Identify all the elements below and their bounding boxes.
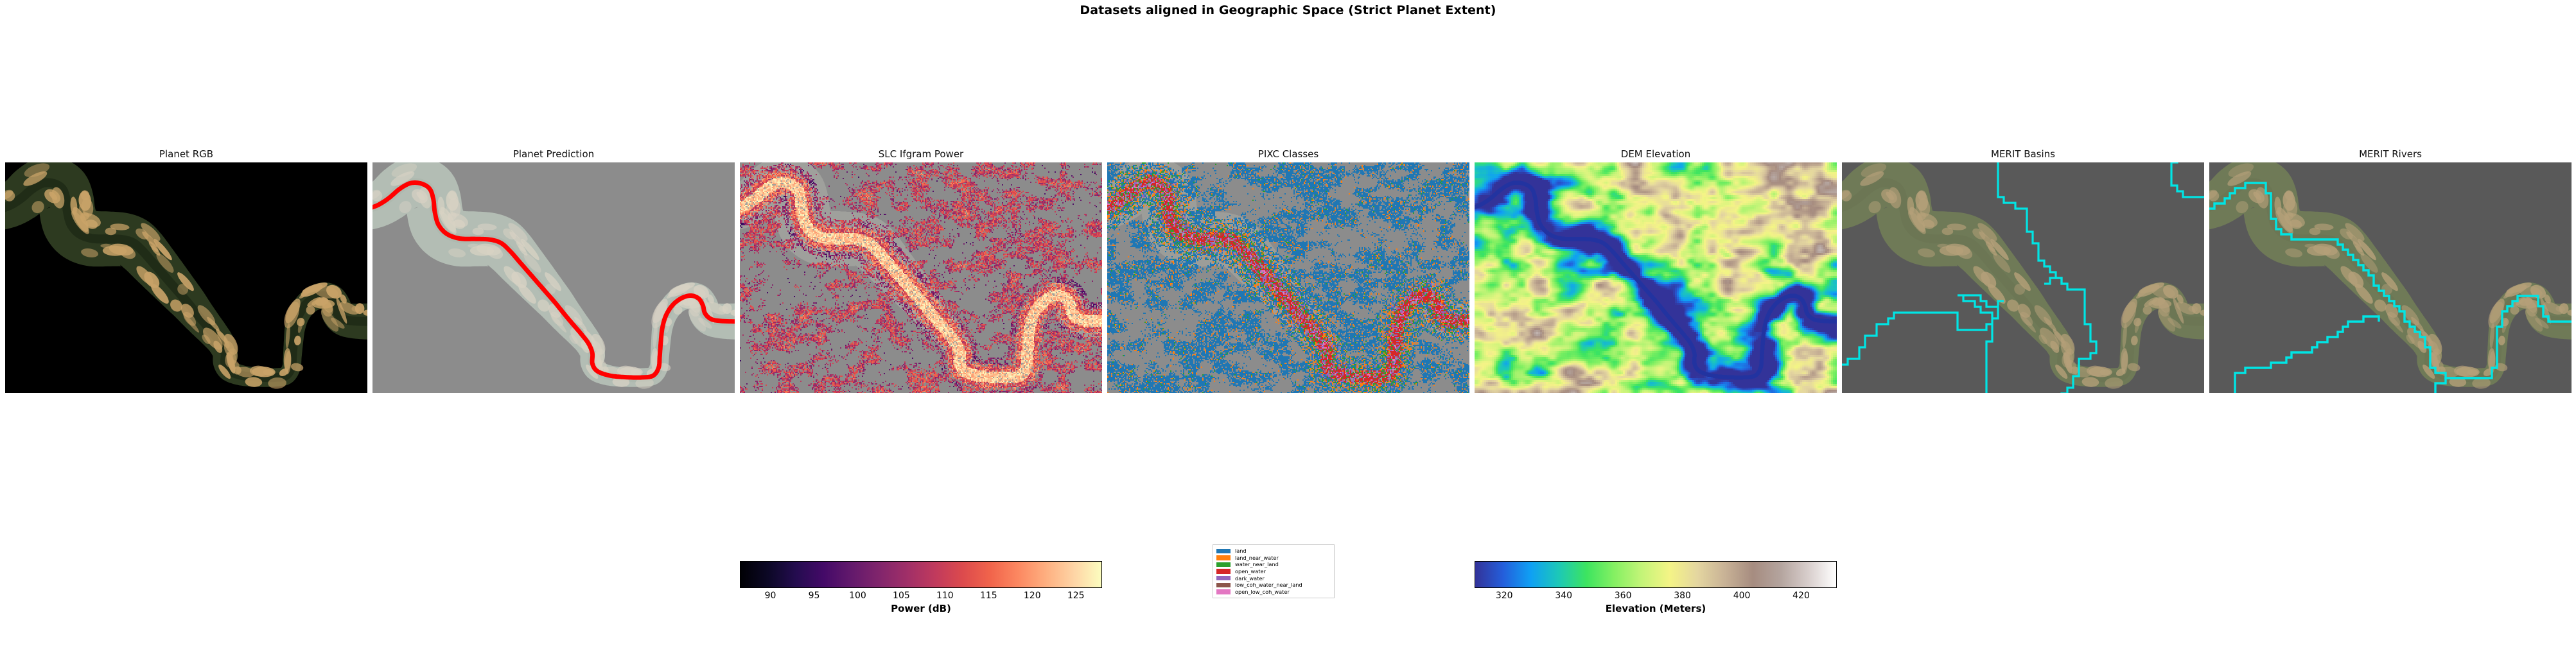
panel-image-planet-prediction[interactable] (372, 162, 735, 393)
panel-dem-elevation: DEM Elevation (1475, 162, 1837, 393)
panel-title-pixc-classes: PIXC Classes (1107, 148, 1469, 160)
legend-label: dark_water (1235, 576, 1265, 581)
colorbar-power-tick: 90 (765, 591, 776, 601)
legend-swatch-icon (1216, 576, 1231, 581)
colorbar-elevation: 320340360380400420 Elevation (Meters) (1475, 561, 1837, 614)
colorbar-elevation-ticks: 320340360380400420 (1475, 588, 1837, 602)
panel-planet-rgb: Planet RGB (5, 162, 367, 393)
legend-label: water_near_land (1235, 562, 1279, 567)
legend-label: land_near_water (1235, 555, 1279, 560)
legend-swatch-icon (1216, 583, 1231, 588)
panel-image-merit-rivers[interactable] (2209, 162, 2572, 393)
panel-title-planet-rgb: Planet RGB (5, 148, 367, 160)
colorbar-power-tick: 105 (893, 591, 910, 601)
legend-swatch-icon (1216, 589, 1231, 594)
colorbar-elevation-tick: 380 (1674, 591, 1691, 601)
panel-image-merit-basins[interactable] (1842, 162, 2204, 393)
colorbar-power-label: Power (dB) (740, 603, 1102, 614)
panel-slc-ifgram-power: SLC Ifgram Power (740, 162, 1102, 393)
colorbar-power-tick: 100 (849, 591, 866, 601)
legend-item[interactable]: open_water (1216, 568, 1330, 575)
colorbar-power-tick: 110 (936, 591, 954, 601)
panel-image-pixc-classes[interactable] (1107, 162, 1469, 393)
colorbar-elevation-tick: 320 (1496, 591, 1513, 601)
colorbar-elevation-gradient (1475, 561, 1837, 588)
figure-title: Datasets aligned in Geographic Space (St… (0, 0, 2576, 21)
legend-swatch-icon (1216, 562, 1231, 567)
colorbar-power-gradient (740, 561, 1102, 588)
legend-label: low_coh_water_near_land (1235, 582, 1302, 587)
colorbar-power-tick: 95 (809, 591, 820, 601)
panel-image-slc-ifgram-power[interactable] (740, 162, 1102, 393)
legend-swatch-icon (1216, 555, 1231, 560)
legend-swatch-icon (1216, 549, 1231, 554)
colorbar-power-ticks: 9095100105110115120125 (740, 588, 1102, 602)
panel-pixc-classes: PIXC Classes (1107, 162, 1469, 393)
panel-title-dem-elevation: DEM Elevation (1475, 148, 1837, 160)
pixc-classes-legend: landland_near_waterwater_near_landopen_w… (1213, 544, 1335, 598)
panel-title-planet-prediction: Planet Prediction (372, 148, 735, 160)
colorbar-power-tick: 125 (1067, 591, 1085, 601)
colorbar-elevation-tick: 340 (1555, 591, 1572, 601)
colorbar-elevation-tick: 360 (1615, 591, 1632, 601)
panel-merit-basins: MERIT Basins (1842, 162, 2204, 393)
panel-title-merit-rivers: MERIT Rivers (2209, 148, 2572, 160)
panel-title-slc-ifgram-power: SLC Ifgram Power (740, 148, 1102, 160)
legend-item[interactable]: low_coh_water_near_land (1216, 582, 1330, 589)
legend-item[interactable]: water_near_land (1216, 561, 1330, 568)
panel-title-merit-basins: MERIT Basins (1842, 148, 2204, 160)
legend-swatch-icon (1216, 569, 1231, 574)
colorbar-power-tick: 120 (1024, 591, 1041, 601)
colorbar-power-tick: 115 (980, 591, 997, 601)
colorbar-elevation-tick: 400 (1733, 591, 1751, 601)
colorbar-elevation-tick: 420 (1792, 591, 1810, 601)
legend-item[interactable]: open_low_coh_water (1216, 589, 1330, 596)
panel-image-planet-rgb[interactable] (5, 162, 367, 393)
colorbar-power: 9095100105110115120125 Power (dB) (740, 561, 1102, 614)
legend-label: land (1235, 548, 1247, 553)
panel-planet-prediction: Planet Prediction (372, 162, 735, 393)
legend-item[interactable]: land (1216, 548, 1330, 555)
legend-label: open_low_coh_water (1235, 589, 1290, 594)
legend-item[interactable]: land_near_water (1216, 555, 1330, 562)
panel-image-dem-elevation[interactable] (1475, 162, 1837, 393)
legend-item[interactable]: dark_water (1216, 575, 1330, 582)
legend-label: open_water (1235, 569, 1266, 574)
panel-merit-rivers: MERIT Rivers (2209, 162, 2572, 393)
colorbar-elevation-label: Elevation (Meters) (1475, 603, 1837, 614)
